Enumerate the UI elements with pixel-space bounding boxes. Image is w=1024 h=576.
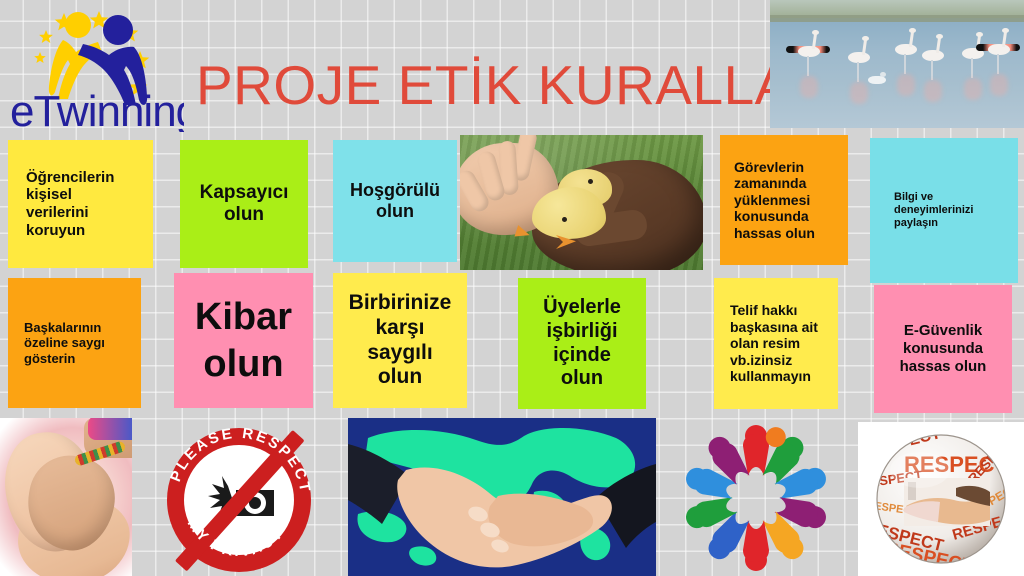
rule-card-label: Görevlerin zamanında yüklenmesi konusund… bbox=[734, 159, 815, 242]
rule-card-telif-hakki-izinsiz-kullanmayin[interactable]: Telif hakkı başkasına ait olan resim vb.… bbox=[714, 278, 838, 409]
rule-card-label: Bilgi ve deneyimlerinizi paylaşın bbox=[894, 191, 973, 230]
chick-in-hands-photo bbox=[460, 135, 703, 270]
rule-card-label: Kibar olun bbox=[195, 294, 292, 387]
slide-canvas: eTwinning PROJE ETİK KURALLARI Öğrencile… bbox=[0, 0, 1024, 576]
rule-card-uyelerle-isbirligi-icinde-olun[interactable]: Üyelerle işbirliği içinde olun bbox=[518, 278, 646, 409]
rule-card-kibar-olun[interactable]: Kibar olun bbox=[174, 273, 313, 408]
rule-card-gorevlerin-zamaninda[interactable]: Görevlerin zamanında yüklenmesi konusund… bbox=[720, 135, 848, 265]
rule-card-hosgorulu-olun[interactable]: Hoşgörülü olun bbox=[333, 140, 457, 262]
rule-card-baskalarinin-ozeline-saygi[interactable]: Başkalarının özeline saygı gösterin bbox=[8, 278, 141, 408]
page-title: PROJE ETİK KURALLARI bbox=[196, 58, 848, 113]
etwinning-logo: eTwinning bbox=[6, 4, 184, 132]
rule-card-bilgi-ve-deneyim-paylasin[interactable]: Bilgi ve deneyimlerinizi paylaşın bbox=[870, 138, 1018, 283]
respect-globe-image: RESPECT RESPECT RESPECT RESPECT RESPECT … bbox=[858, 422, 1024, 576]
rule-card-label: Başkalarının özeline saygı gösterin bbox=[24, 320, 105, 366]
rule-card-label: Kapsayıcı olun bbox=[200, 182, 289, 227]
handshake-world-photo bbox=[348, 418, 656, 576]
rule-card-label: E-Güvenlik konusunda hassas olun bbox=[900, 322, 987, 375]
rule-card-kapsayici-olun[interactable]: Kapsayıcı olun bbox=[180, 140, 308, 268]
rule-card-label: Telif hakkı başkasına ait olan resim vb.… bbox=[730, 302, 818, 385]
rule-card-label: Üyelerle işbirliği içinde olun bbox=[543, 296, 621, 390]
stacked-hands-photo bbox=[0, 418, 132, 576]
rule-card-ogrencilerin-kisisel-verileri[interactable]: Öğrencilerin kişisel verilerini koruyun bbox=[8, 140, 153, 268]
svg-text:eTwinning: eTwinning bbox=[10, 87, 184, 132]
rule-card-label: Hoşgörülü olun bbox=[350, 180, 440, 222]
privacy-sign-image: PLEASE RESPECT MY PRIVACY bbox=[152, 420, 327, 576]
flamingo-photo bbox=[770, 0, 1024, 128]
rule-card-label: Birbirinize karşı saygılı olun bbox=[349, 291, 452, 390]
rule-card-birbirinize-karsi-saygili-olun[interactable]: Birbirinize karşı saygılı olun bbox=[333, 273, 467, 408]
rule-card-e-guvenlik-hassas-olun[interactable]: E-Güvenlik konusunda hassas olun bbox=[874, 285, 1012, 413]
rule-card-label: Öğrencilerin kişisel verilerini koruyun bbox=[26, 169, 114, 240]
people-circle-icon bbox=[662, 416, 850, 576]
